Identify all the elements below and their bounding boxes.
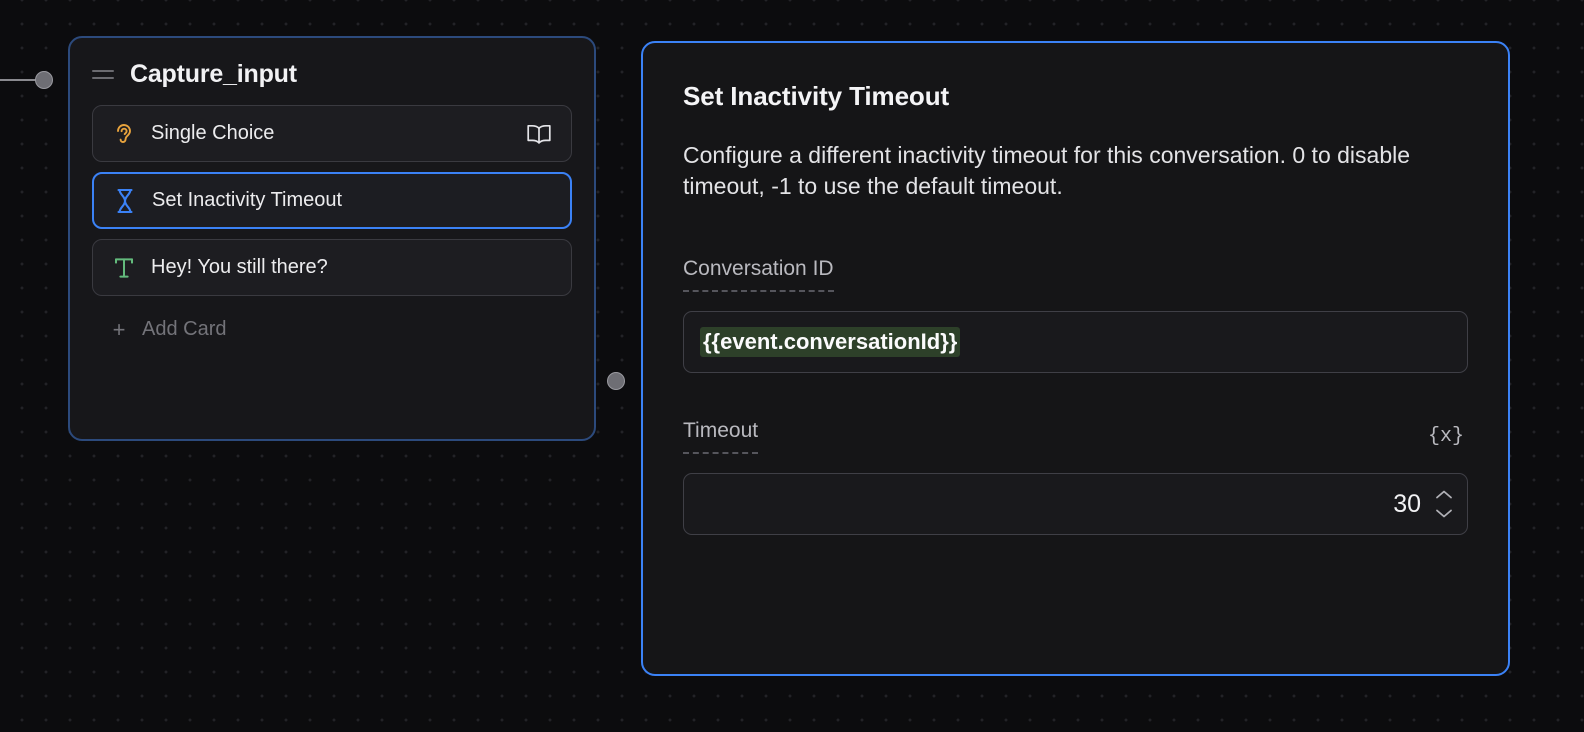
number-stepper[interactable] [1433,489,1455,519]
card-settings-panel: Set Inactivity Timeout Configure a diffe… [641,41,1510,676]
drag-handle-icon[interactable] [92,66,114,83]
flow-node-capture-input[interactable]: Capture_input Single Choice [68,36,596,441]
add-card-button[interactable]: + Add Card [92,314,572,345]
template-token: {{event.conversationId}} [700,327,960,357]
card-label: Hey! You still there? [151,256,553,279]
field-label: Timeout [683,419,758,454]
input-port[interactable] [35,71,53,89]
panel-title: Set Inactivity Timeout [683,81,1468,112]
card-list: Single Choice Set Inactivity Timeout [70,105,594,296]
incoming-edge [0,79,40,81]
card-item-text-message[interactable]: Hey! You still there? [92,239,572,296]
text-t-icon [111,255,137,281]
add-card-label: Add Card [142,318,227,341]
drag-handle-line [92,77,114,79]
field-conversation-id: Conversation ID {{event.conversationId}} [683,257,1468,373]
node-title: Capture_input [130,60,297,89]
field-label: Conversation ID [683,257,834,292]
hourglass-icon [112,188,138,214]
drag-handle-line [92,70,114,72]
book-icon[interactable] [525,120,553,148]
output-port[interactable] [607,372,625,390]
conversation-id-input[interactable]: {{event.conversationId}} [683,311,1468,373]
timeout-input[interactable]: 30 [683,473,1468,535]
ear-icon [111,121,137,147]
variable-toggle-icon[interactable]: {x} [1424,423,1468,450]
card-label: Set Inactivity Timeout [152,189,552,212]
card-item-single-choice[interactable]: Single Choice [92,105,572,162]
card-label: Single Choice [151,122,511,145]
node-header: Capture_input [70,38,594,105]
field-label-row: Timeout {x} [683,419,1468,454]
stepper-down-icon[interactable] [1435,508,1453,519]
field-label-row: Conversation ID [683,257,1468,292]
timeout-value: 30 [1393,490,1421,519]
card-item-set-inactivity-timeout[interactable]: Set Inactivity Timeout [92,172,572,229]
field-timeout: Timeout {x} 30 [683,419,1468,535]
panel-description: Configure a different inactivity timeout… [683,140,1468,201]
plus-icon: + [110,319,128,341]
stepper-up-icon[interactable] [1435,489,1453,500]
